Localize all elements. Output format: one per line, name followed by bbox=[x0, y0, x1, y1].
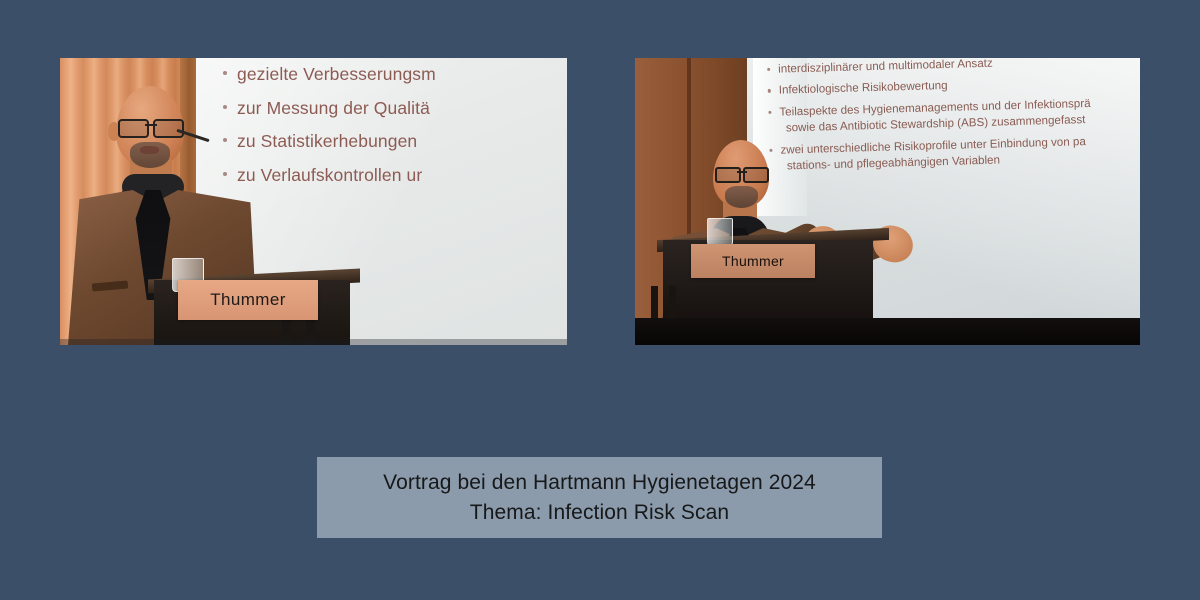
podium-leg bbox=[651, 286, 658, 318]
podium-leg bbox=[669, 286, 676, 318]
slide-bullet: zu Verlaufskontrollen ur bbox=[220, 159, 567, 193]
slide-canvas: gezielte Verbesserungsm zur Messung der … bbox=[0, 0, 1200, 600]
slide-bullet: zu Statistikerhebungen bbox=[220, 125, 567, 159]
caption-line-1: Vortrag bei den Hartmann Hygienetagen 20… bbox=[383, 468, 816, 498]
eyeglasses-icon bbox=[715, 167, 769, 179]
nameplate-left: Thummer bbox=[178, 280, 318, 320]
nameplate-label: Thummer bbox=[722, 253, 784, 269]
slide-bullet-main: Infektiologische Risikobewertung bbox=[779, 79, 948, 97]
lens-left bbox=[715, 167, 741, 183]
slide-bullet: gezielte Verbesserungsm bbox=[220, 58, 567, 92]
speaker-mouth bbox=[140, 146, 159, 154]
lens-left bbox=[118, 119, 149, 138]
slide-bullet: zur Messung der Qualitä bbox=[220, 92, 567, 126]
floor-shadow bbox=[60, 339, 567, 345]
eyeglasses-icon bbox=[118, 119, 184, 134]
stage-dark-band bbox=[635, 318, 1140, 345]
slide-bullet: Teilaspekte des Hygienemanagements und d… bbox=[766, 93, 1140, 138]
photo-left-speaker-at-podium: gezielte Verbesserungsm zur Messung der … bbox=[60, 58, 567, 345]
slide-bullet-main: interdisziplinärer und multimodaler Ansa… bbox=[778, 58, 993, 76]
lens-right bbox=[743, 167, 769, 183]
nameplate-right: Thummer bbox=[691, 244, 815, 278]
nameplate-label: Thummer bbox=[210, 290, 286, 310]
speaker-goatee bbox=[725, 186, 758, 208]
caption-line-2: Thema: Infection Risk Scan bbox=[470, 498, 729, 528]
slide-bullet-list-left: gezielte Verbesserungsm zur Messung der … bbox=[220, 58, 567, 192]
caption-box: Vortrag bei den Hartmann Hygienetagen 20… bbox=[317, 457, 882, 538]
water-glass bbox=[707, 218, 733, 246]
photo-right-speaker-gesturing: interdisziplinärer und multimodaler Ansa… bbox=[635, 58, 1140, 345]
